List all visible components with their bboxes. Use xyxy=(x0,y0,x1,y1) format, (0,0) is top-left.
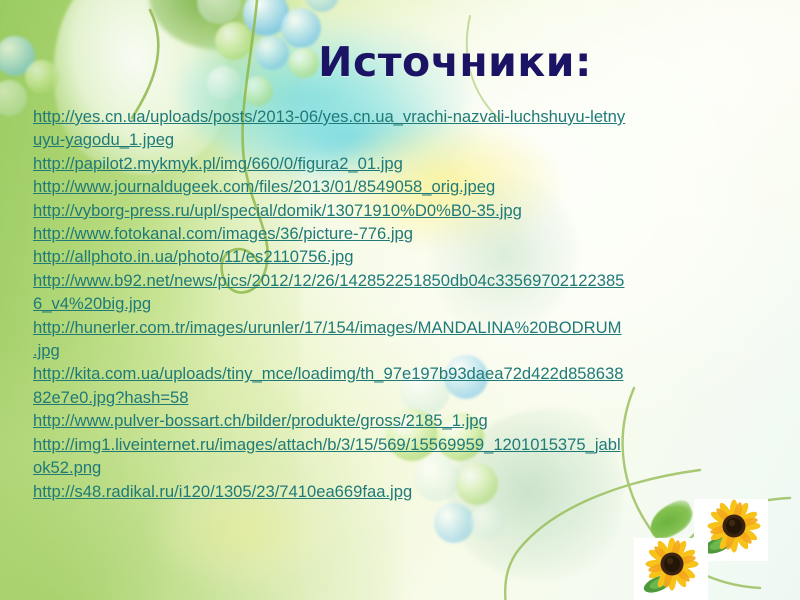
list-item: http://www.fotokanal.com/images/36/pictu… xyxy=(33,222,791,245)
list-item: http://www.journaldugeek.com/files/2013/… xyxy=(33,175,791,198)
list-item: ok52.png xyxy=(33,456,791,479)
list-item: .jpg xyxy=(33,339,791,362)
source-link[interactable]: 82e7e0.jpg?hash=58 xyxy=(33,388,189,407)
source-link-list: http://yes.cn.ua/uploads/posts/2013-06/y… xyxy=(33,105,791,503)
list-item: http://img1.liveinternet.ru/images/attac… xyxy=(33,433,791,456)
list-item: 6_v4%20big.jpg xyxy=(33,292,791,315)
list-item: http://allphoto.in.ua/photo/11/es2110756… xyxy=(33,245,791,268)
source-link[interactable]: http://vyborg-press.ru/upl/special/domik… xyxy=(33,201,522,220)
list-item: uyu-yagodu_1.jpeg xyxy=(33,128,791,151)
source-link[interactable]: http://img1.liveinternet.ru/images/attac… xyxy=(33,435,621,454)
source-link[interactable]: http://www.fotokanal.com/images/36/pictu… xyxy=(33,224,413,243)
page-title: Источники: xyxy=(0,42,800,83)
source-link[interactable]: uyu-yagodu_1.jpeg xyxy=(33,130,174,149)
source-link[interactable]: 6_v4%20big.jpg xyxy=(33,294,151,313)
source-link[interactable]: http://www.b92.net/news/pics/2012/12/26/… xyxy=(33,271,624,290)
source-link[interactable]: http://hunerler.com.tr/images/urunler/17… xyxy=(33,318,621,337)
source-link[interactable]: http://allphoto.in.ua/photo/11/es2110756… xyxy=(33,247,353,266)
list-item: 82e7e0.jpg?hash=58 xyxy=(33,386,791,409)
list-item: http://s48.radikal.ru/i120/1305/23/7410e… xyxy=(33,480,791,503)
source-link[interactable]: http://www.journaldugeek.com/files/2013/… xyxy=(33,177,495,196)
source-link[interactable]: http://papilot2.mykmyk.pl/img/660/0/figu… xyxy=(33,154,403,173)
source-link[interactable]: http://kita.com.ua/uploads/tiny_mce/load… xyxy=(33,364,623,383)
source-link[interactable]: http://s48.radikal.ru/i120/1305/23/7410e… xyxy=(33,482,412,501)
list-item: http://www.pulver-bossart.ch/bilder/prod… xyxy=(33,409,791,432)
source-link[interactable]: http://www.pulver-bossart.ch/bilder/prod… xyxy=(33,411,488,430)
list-item: http://papilot2.mykmyk.pl/img/660/0/figu… xyxy=(33,152,791,175)
source-link[interactable]: ok52.png xyxy=(33,458,101,477)
source-link[interactable]: .jpg xyxy=(33,341,60,360)
slide-canvas: Источники: http://yes.cn.ua/uploads/post… xyxy=(0,0,800,600)
list-item: http://vyborg-press.ru/upl/special/domik… xyxy=(33,199,791,222)
list-item: http://kita.com.ua/uploads/tiny_mce/load… xyxy=(33,362,791,385)
list-item: http://www.b92.net/news/pics/2012/12/26/… xyxy=(33,269,791,292)
list-item: http://yes.cn.ua/uploads/posts/2013-06/y… xyxy=(33,105,791,128)
source-link[interactable]: http://yes.cn.ua/uploads/posts/2013-06/y… xyxy=(33,107,625,126)
slide-content: Источники: http://yes.cn.ua/uploads/post… xyxy=(0,0,800,600)
list-item: http://hunerler.com.tr/images/urunler/17… xyxy=(33,316,791,339)
